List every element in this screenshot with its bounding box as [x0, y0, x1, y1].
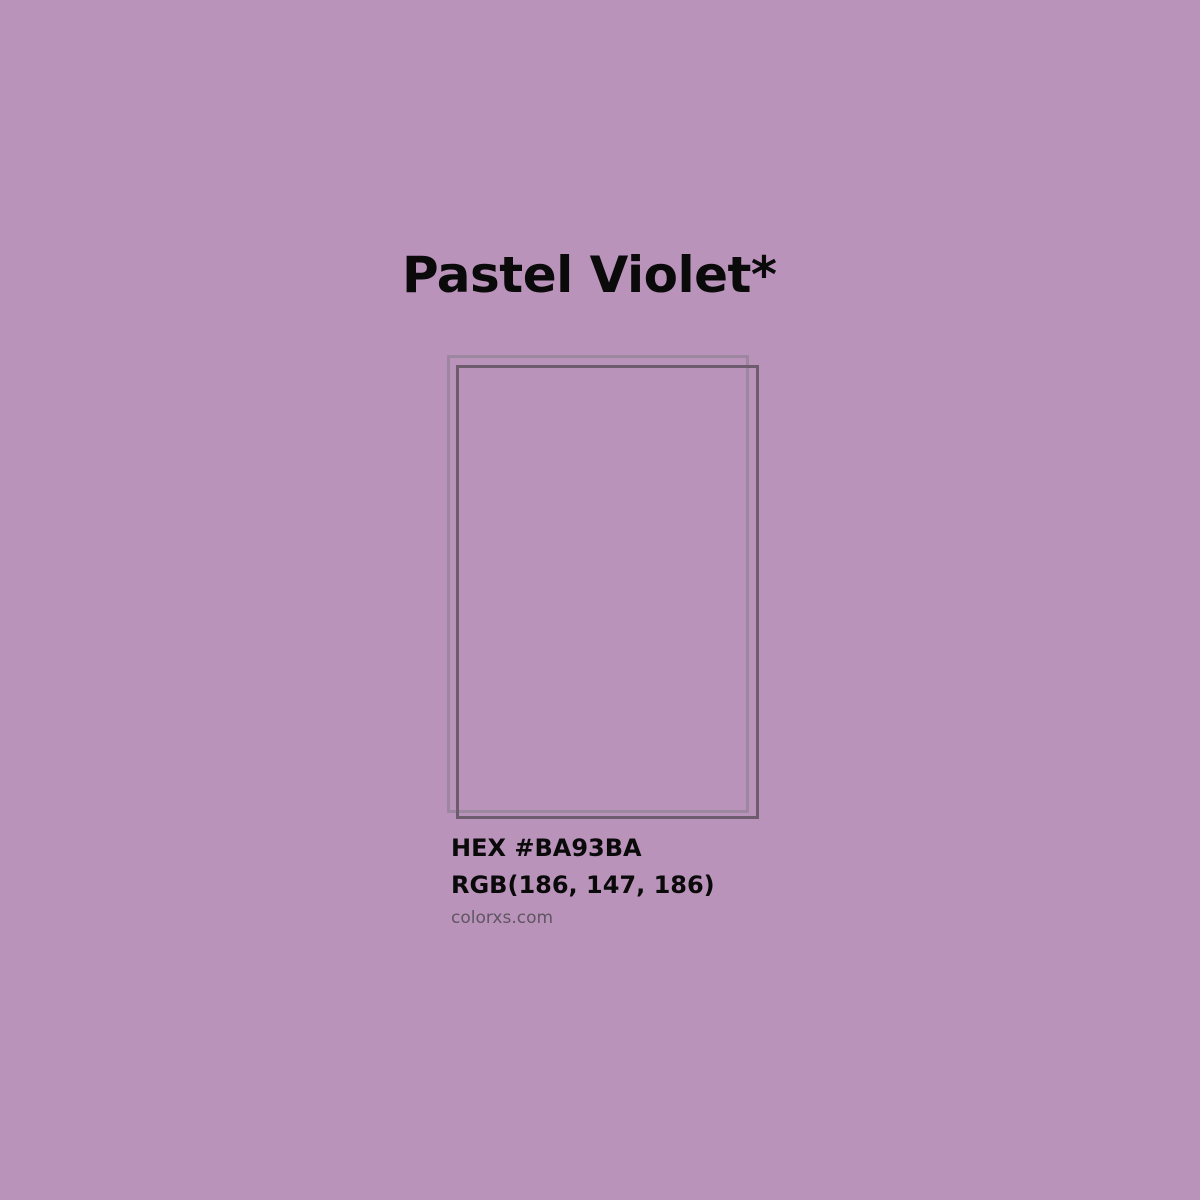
rgb-value-label: RGB(186, 147, 186): [451, 871, 715, 899]
site-watermark: colorxs.com: [451, 908, 553, 928]
swatch-outline-inner: [456, 365, 759, 819]
color-swatch-frame: [440, 348, 770, 828]
color-swatch-page: Pastel Violet* HEX #BA93BA RGB(186, 147,…: [0, 0, 1200, 1200]
hex-value-label: HEX #BA93BA: [451, 834, 642, 862]
page-title: Pastel Violet*: [402, 248, 777, 303]
